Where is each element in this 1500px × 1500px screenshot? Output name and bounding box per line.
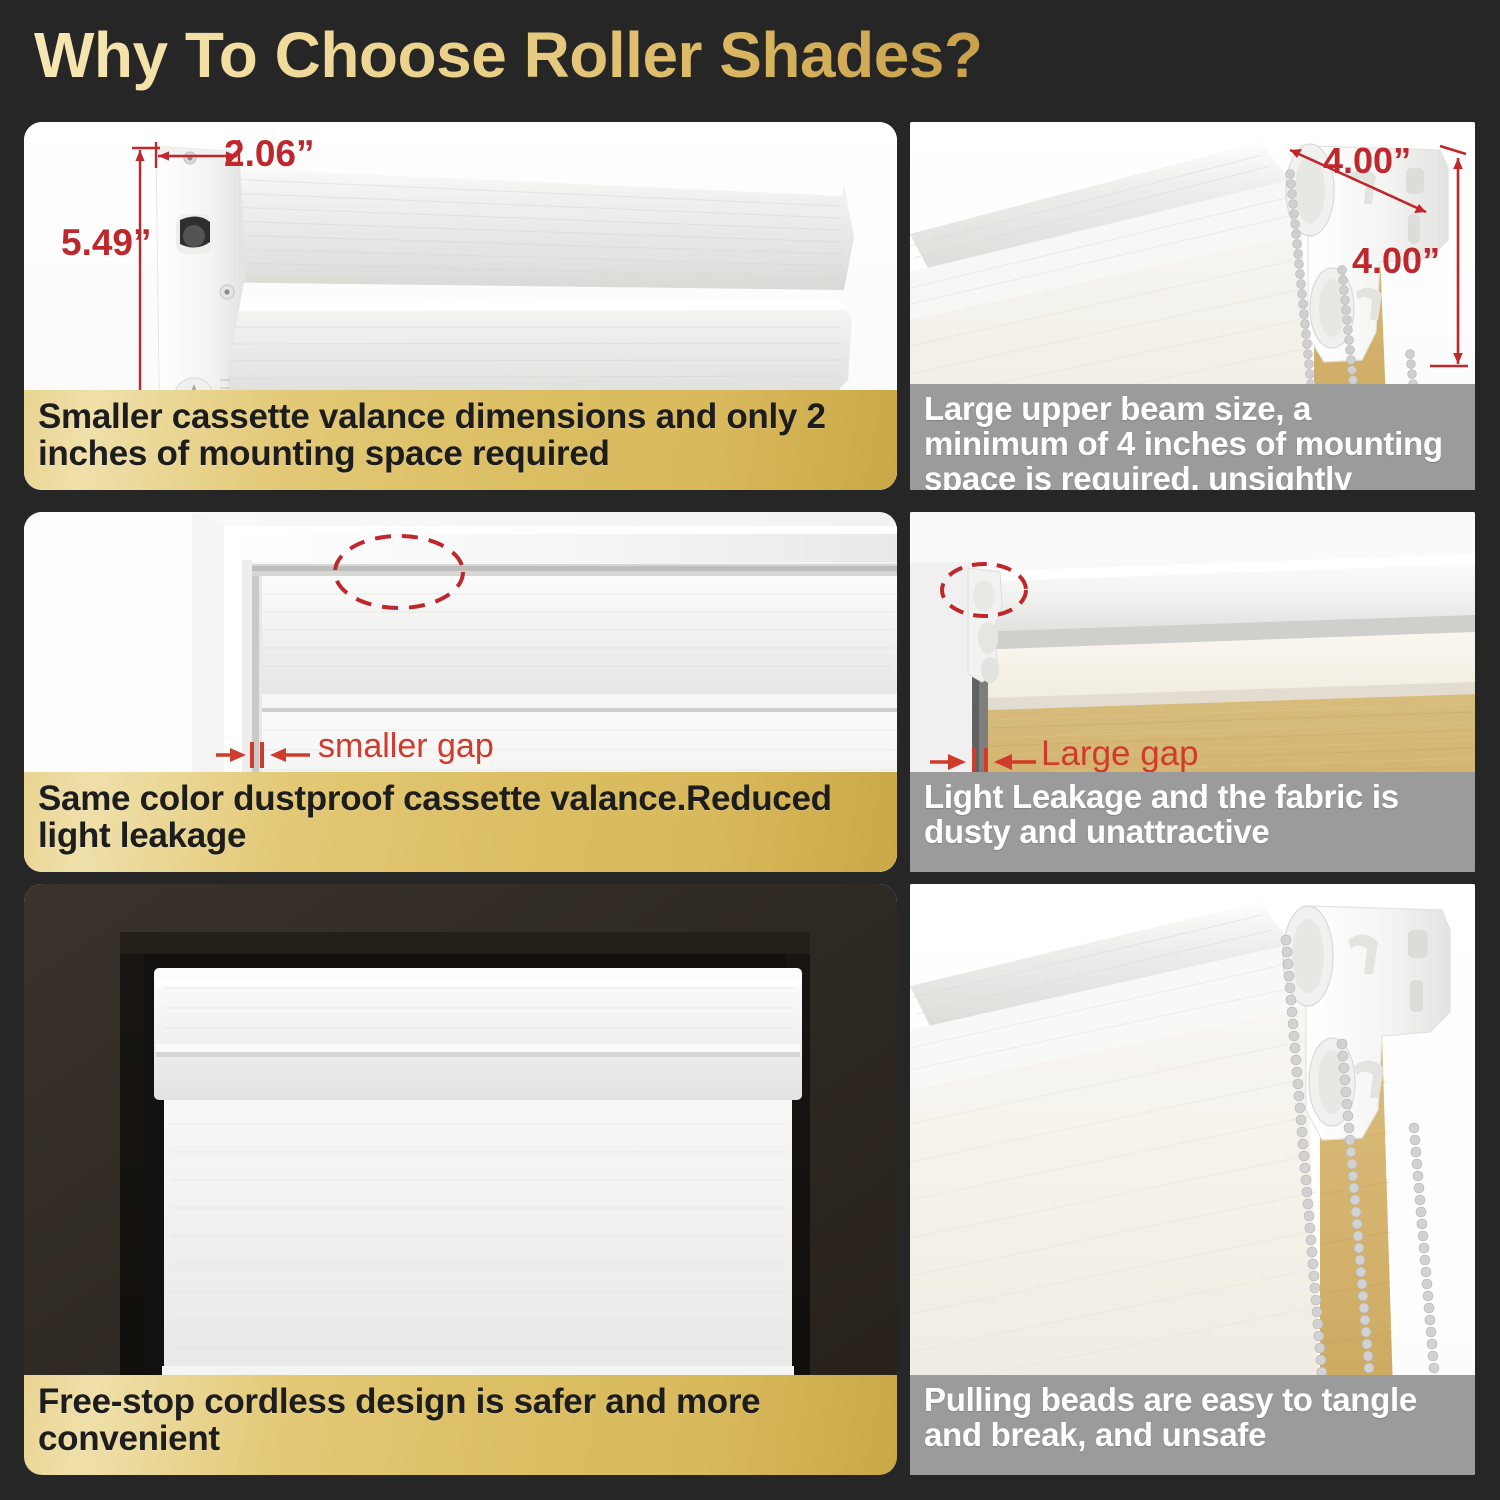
panel-caption-text: Pulling beads are easy to tangle and bre… [924, 1383, 1461, 1453]
dimension-label-width: 2.06” [224, 133, 315, 175]
panel-caption-text: Same color dustproof cassette valance.Re… [38, 780, 883, 854]
panel-upper-beam-size: 4.00” 4.00” Large upper beam size, a min… [910, 122, 1475, 490]
panel-cassette-dimensions: 2.06” 5.49” Smaller cassette valance dim… [24, 122, 897, 490]
panel-pulling-beads: Pulling beads are easy to tangle and bre… [910, 884, 1475, 1475]
infographic-page: Why To Choose Roller Shades? [0, 0, 1500, 1500]
panel-dustproof-valance: smaller gap Same color dustproof cassett… [24, 512, 897, 872]
panel-caption: Pulling beads are easy to tangle and bre… [910, 1375, 1475, 1475]
dimension-label-height: 4.00” [1352, 240, 1440, 282]
dimension-label-height: 5.49” [61, 222, 152, 264]
panel-caption: Light Leakage and the fabric is dusty an… [910, 772, 1475, 872]
panel-caption-text: Large upper beam size, a minimum of 4 in… [924, 392, 1461, 490]
panel-caption: Large upper beam size, a minimum of 4 in… [910, 384, 1475, 490]
panel-caption: Smaller cassette valance dimensions and … [24, 390, 897, 490]
panel-caption-text: Smaller cassette valance dimensions and … [38, 398, 883, 472]
dimension-label-width: 4.00” [1323, 140, 1411, 182]
gap-label: Large gap [1041, 734, 1199, 774]
gap-label: smaller gap [318, 727, 494, 766]
comparison-grid: 2.06” 5.49” Smaller cassette valance dim… [0, 0, 1500, 1500]
panel-caption: Same color dustproof cassette valance.Re… [24, 772, 897, 872]
panel-cordless-design: Free-stop cordless design is safer and m… [24, 884, 897, 1475]
panel-caption: Free-stop cordless design is safer and m… [24, 1375, 897, 1475]
panel-light-leakage: Large gap Light Leakage and the fabric i… [910, 512, 1475, 872]
panel-caption-text: Light Leakage and the fabric is dusty an… [924, 780, 1461, 850]
panel-caption-text: Free-stop cordless design is safer and m… [38, 1383, 883, 1457]
